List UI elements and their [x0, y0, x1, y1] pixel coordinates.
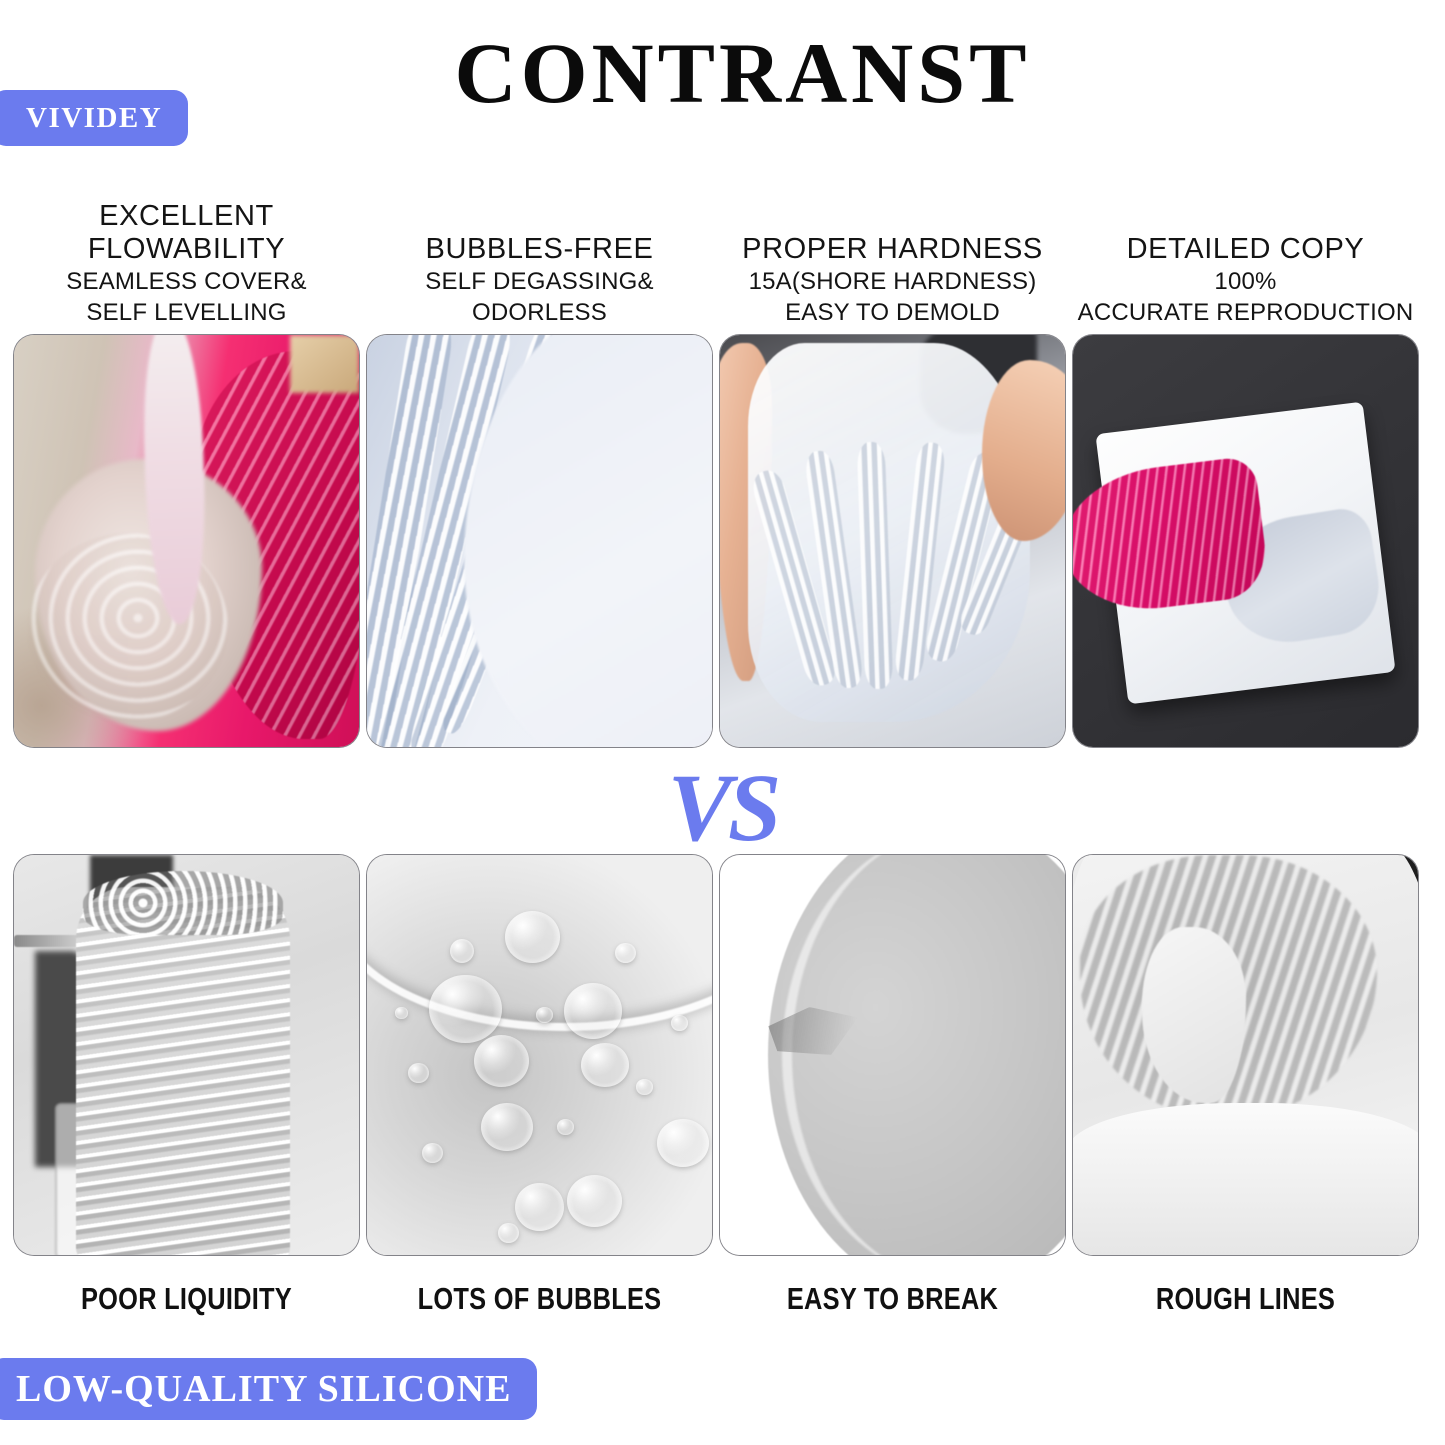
brand-badge-vividey: VIVIDEY: [0, 90, 188, 146]
bubble: [429, 975, 501, 1043]
bubble: [481, 1103, 533, 1151]
vs-divider: VS: [0, 760, 1445, 856]
brand-badge-bottom-label: LOW-QUALITY SILICONE: [16, 1367, 511, 1411]
defect-caption-lots-of-bubbles: LOTS OF BUBBLES: [398, 1281, 681, 1317]
bubble: [567, 1175, 622, 1227]
feature-sub-line2: EASY TO DEMOLD: [720, 299, 1065, 327]
bubble: [408, 1063, 429, 1083]
feature-title-line1: BUBBLES-FREE: [367, 233, 712, 266]
feature-title-line1: DETAILED COPY: [1073, 233, 1418, 266]
product-photo-detailed-copy: [1073, 335, 1418, 747]
page-title: CONTRANST: [0, 30, 1445, 116]
bubble: [564, 983, 623, 1039]
feature-title-line1: EXCELLENT: [14, 200, 359, 233]
feature-title-line2: FLOWABILITY: [14, 233, 359, 266]
product-photo-bubbles-free: [367, 335, 712, 747]
feature-header-detailed-copy: DETAILED COPY 100% ACCURATE REPRODUCTION: [1073, 180, 1418, 335]
bubble: [581, 1043, 629, 1087]
good-product-row: EXCELLENT FLOWABILITY SEAMLESS COVER& SE…: [14, 180, 1431, 747]
bubble: [450, 939, 474, 963]
defect-column-easy-to-break: EASY TO BREAK: [720, 855, 1065, 1317]
bubble: [615, 943, 636, 963]
defect-photo-lots-of-bubbles: [367, 855, 712, 1255]
bubble: [557, 1119, 574, 1135]
defect-caption-poor-liquidity: POOR LIQUIDITY: [45, 1281, 328, 1317]
defect-caption-rough-lines: ROUGH LINES: [1104, 1281, 1387, 1317]
feature-column-bubbles-free: BUBBLES-FREE SELF DEGASSING& ODORLESS: [367, 180, 712, 747]
feature-sub-line1: 100%: [1073, 268, 1418, 296]
defect-column-poor-liquidity: POOR LIQUIDITY: [14, 855, 359, 1317]
feature-header-flowability: EXCELLENT FLOWABILITY SEAMLESS COVER& SE…: [14, 180, 359, 335]
defect-column-lots-of-bubbles: LOTS OF BUBBLES: [367, 855, 712, 1317]
defect-photo-easy-to-break: [720, 855, 1065, 1255]
bubble: [422, 1143, 443, 1163]
feature-title-line1: PROPER HARDNESS: [720, 233, 1065, 266]
product-photo-hardness: [720, 335, 1065, 747]
bubble: [657, 1119, 709, 1167]
defect-photo-poor-liquidity: [14, 855, 359, 1255]
mold-edge-highlight: [782, 855, 1065, 1255]
feature-column-flowability: EXCELLENT FLOWABILITY SEAMLESS COVER& SE…: [14, 180, 359, 747]
feature-header-bubbles-free: BUBBLES-FREE SELF DEGASSING& ODORLESS: [367, 180, 712, 335]
bubble: [515, 1183, 563, 1231]
defect-photo-rough-lines: [1073, 855, 1418, 1255]
bubble: [498, 1223, 519, 1243]
feature-sub-line2: ODORLESS: [367, 299, 712, 327]
bubble: [505, 911, 560, 963]
feature-sub-line1: SELF DEGASSING&: [367, 268, 712, 296]
mold-lip: [1073, 1103, 1418, 1255]
feature-column-detailed-copy: DETAILED COPY 100% ACCURATE REPRODUCTION: [1073, 180, 1418, 747]
defect-caption-easy-to-break: EASY TO BREAK: [751, 1281, 1034, 1317]
feature-sub-line2: ACCURATE REPRODUCTION: [1073, 299, 1418, 327]
product-photo-flowability: [14, 335, 359, 747]
low-quality-silicone-badge: LOW-QUALITY SILICONE: [0, 1358, 537, 1420]
feature-column-hardness: PROPER HARDNESS 15A(SHORE HARDNESS) EASY…: [720, 180, 1065, 747]
defect-column-rough-lines: ROUGH LINES: [1073, 855, 1418, 1317]
wood-surface-corner: [290, 335, 359, 393]
bubble: [671, 1015, 688, 1031]
thick-silicone-pour: [76, 887, 290, 1255]
bubble: [474, 1035, 529, 1087]
silicone-lumps: [83, 871, 283, 935]
low-quality-row: POOR LIQUIDITY LOTS OF BUBBLE: [14, 855, 1431, 1317]
brand-badge-top-label: VIVIDEY: [26, 102, 162, 135]
feature-sub-line2: SELF LEVELLING: [14, 299, 359, 327]
feature-sub-line1: 15A(SHORE HARDNESS): [720, 268, 1065, 296]
feature-sub-line1: SEAMLESS COVER&: [14, 268, 359, 296]
feature-header-hardness: PROPER HARDNESS 15A(SHORE HARDNESS) EASY…: [720, 180, 1065, 335]
